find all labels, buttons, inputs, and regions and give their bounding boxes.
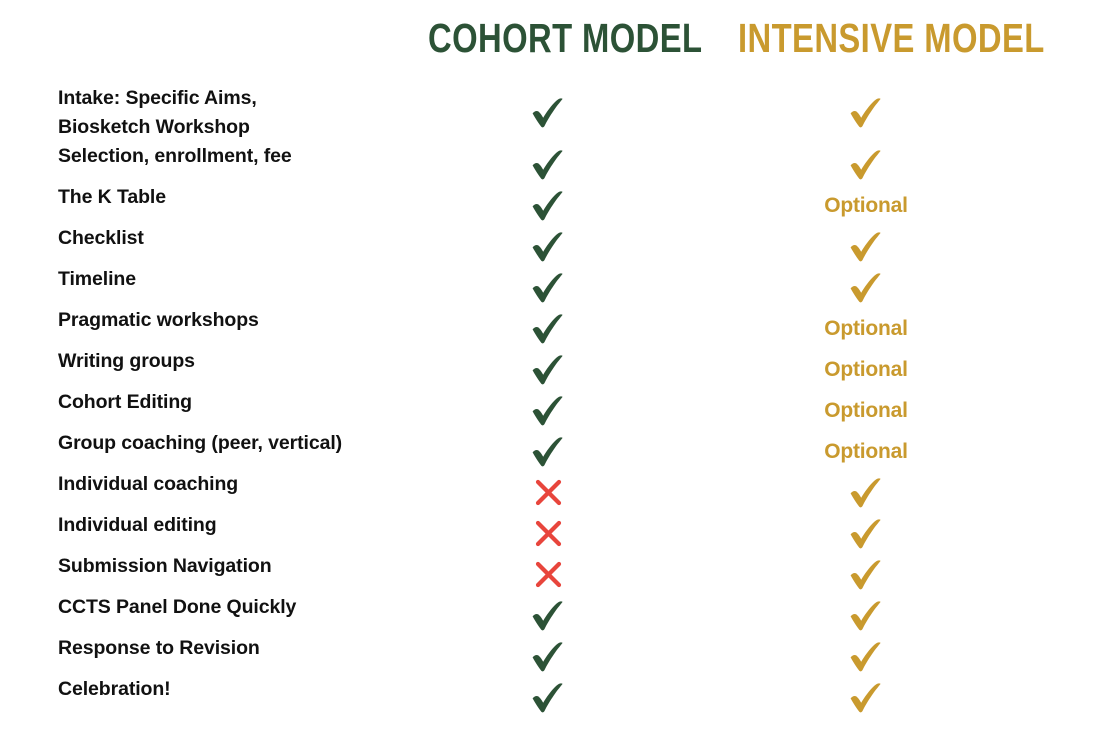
check-icon: [786, 636, 946, 677]
table-header-row: COHORT MODEL INTENSIVE MODEL: [0, 0, 1096, 78]
row-label: Individual coaching: [58, 472, 458, 496]
check-icon: [468, 267, 628, 308]
check-icon: [468, 636, 628, 677]
table-row: Writing groupsOptional: [0, 349, 1096, 390]
optional-text: Optional: [824, 399, 908, 423]
row-label: Response to Revision: [58, 636, 458, 660]
row-label: Checklist: [58, 226, 458, 250]
check-icon: [786, 554, 946, 595]
table-row: Individual coaching: [0, 472, 1096, 513]
row-label: The K Table: [58, 185, 458, 209]
check-icon: [786, 677, 946, 718]
check-icon: [468, 144, 628, 185]
cross-icon: [468, 554, 628, 595]
optional-text: Optional: [824, 358, 908, 382]
table-row: Intake: Specific Aims, Biosketch Worksho…: [0, 82, 1096, 144]
optional-label: Optional: [786, 390, 946, 431]
row-label: Celebration!: [58, 677, 458, 701]
row-label: Cohort Editing: [58, 390, 458, 414]
table-row: Group coaching (peer, vertical)Optional: [0, 431, 1096, 472]
table-row: Individual editing: [0, 513, 1096, 554]
check-icon: [786, 82, 946, 144]
table-row: Response to Revision: [0, 636, 1096, 677]
check-icon: [468, 595, 628, 636]
table-row: Checklist: [0, 226, 1096, 267]
check-icon: [468, 431, 628, 472]
row-label: Writing groups: [58, 349, 458, 373]
check-icon: [468, 390, 628, 431]
column-header-cohort-model: COHORT MODEL: [428, 14, 668, 62]
row-label: Selection, enrollment, fee: [58, 144, 458, 168]
table-row: Timeline: [0, 267, 1096, 308]
check-icon: [786, 267, 946, 308]
row-label: Group coaching (peer, vertical): [58, 431, 458, 455]
check-icon: [786, 595, 946, 636]
table-row: Submission Navigation: [0, 554, 1096, 595]
check-icon: [786, 144, 946, 185]
check-icon: [468, 82, 628, 144]
check-icon: [468, 308, 628, 349]
check-icon: [468, 226, 628, 267]
optional-label: Optional: [786, 349, 946, 390]
row-label: Submission Navigation: [58, 554, 458, 578]
row-label: Timeline: [58, 267, 458, 291]
row-label: Pragmatic workshops: [58, 308, 458, 332]
row-label: CCTS Panel Done Quickly: [58, 595, 458, 619]
optional-text: Optional: [824, 440, 908, 464]
table-row: Selection, enrollment, fee: [0, 144, 1096, 185]
table-body: Intake: Specific Aims, Biosketch Worksho…: [0, 82, 1096, 718]
check-icon: [786, 513, 946, 554]
optional-label: Optional: [786, 431, 946, 472]
check-icon: [786, 472, 946, 513]
comparison-table-page: COHORT MODEL INTENSIVE MODEL Intake: Spe…: [0, 0, 1096, 747]
optional-label: Optional: [786, 185, 946, 226]
table-row: Celebration!: [0, 677, 1096, 718]
table-row: CCTS Panel Done Quickly: [0, 595, 1096, 636]
table-row: Pragmatic workshopsOptional: [0, 308, 1096, 349]
optional-text: Optional: [824, 194, 908, 218]
cross-icon: [468, 472, 628, 513]
row-label: Intake: Specific Aims, Biosketch Worksho…: [58, 84, 458, 142]
cross-icon: [468, 513, 628, 554]
table-row: The K TableOptional: [0, 185, 1096, 226]
optional-text: Optional: [824, 317, 908, 341]
column-header-intensive-model: INTENSIVE MODEL: [738, 14, 994, 62]
check-icon: [786, 226, 946, 267]
check-icon: [468, 677, 628, 718]
check-icon: [468, 185, 628, 226]
optional-label: Optional: [786, 308, 946, 349]
check-icon: [468, 349, 628, 390]
row-label: Individual editing: [58, 513, 458, 537]
table-row: Cohort EditingOptional: [0, 390, 1096, 431]
